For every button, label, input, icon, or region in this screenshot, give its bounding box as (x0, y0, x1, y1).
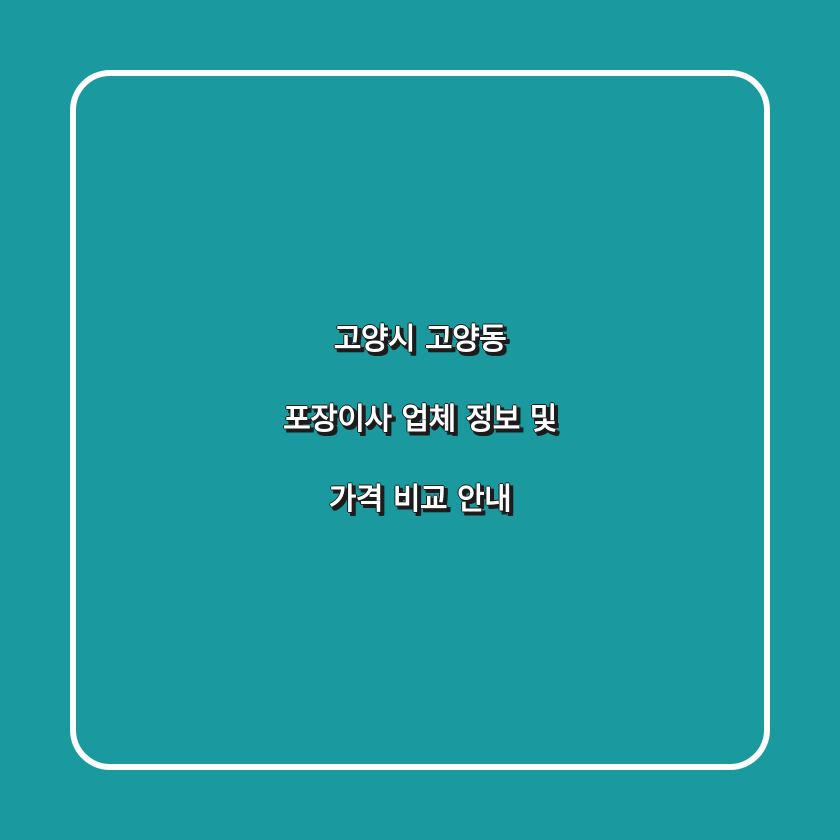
headline-line-1: 고양시 고양동 (56, 300, 784, 380)
headline-line-3: 가격 비교 안내 (56, 460, 784, 540)
headline-block: 고양시 고양동 포장이사 업체 정보 및 가격 비교 안내 (0, 0, 840, 840)
thumbnail-card: 고양시 고양동 포장이사 업체 정보 및 가격 비교 안내 (0, 0, 840, 840)
headline-line-2: 포장이사 업체 정보 및 (56, 380, 784, 460)
